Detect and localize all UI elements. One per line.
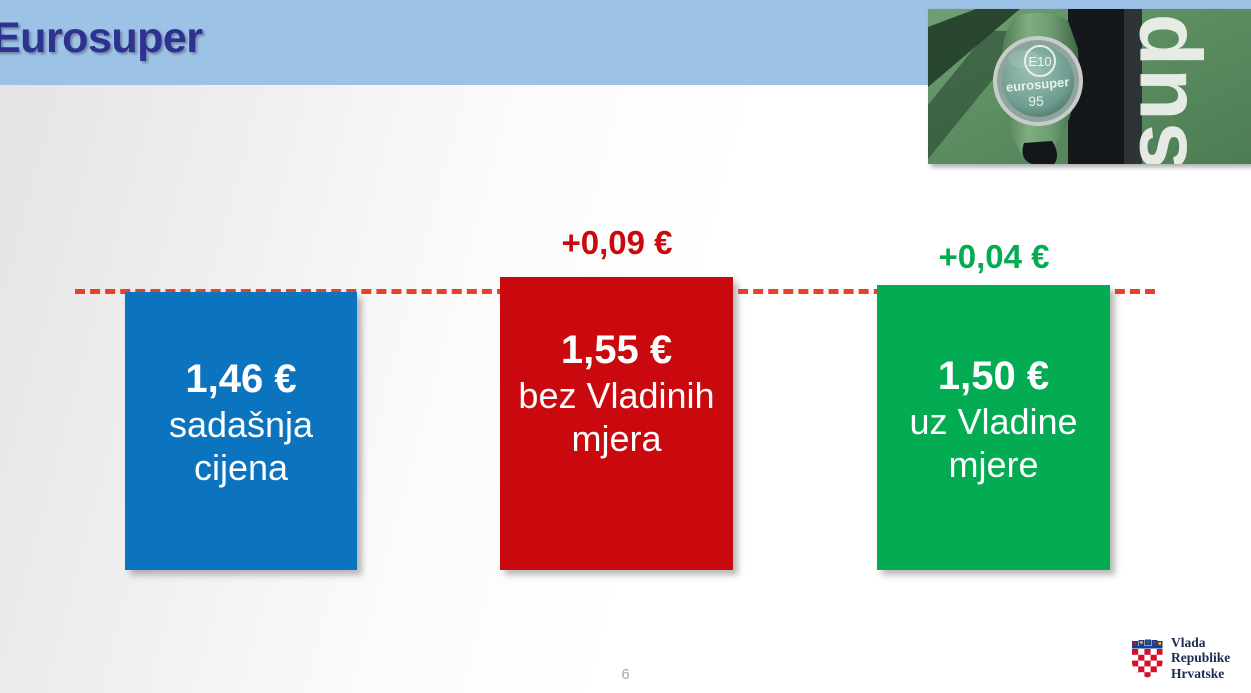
svg-text:95: 95 <box>1028 93 1044 109</box>
bar-current: 1,46 € sadašnja cijena <box>125 292 357 570</box>
bar-without-measures-caption: bez Vladinih mjera <box>500 374 733 460</box>
page-number: 6 <box>0 666 1251 683</box>
bar-with-measures-price: 1,50 € <box>877 353 1110 400</box>
delta-label-with-measures: +0,04 € <box>874 238 1114 276</box>
gov-logo-line1: Vlada <box>1171 635 1230 650</box>
croatian-coat-of-arms-icon <box>1130 638 1164 678</box>
bar-with-measures-caption: uz Vladine mjere <box>877 400 1110 486</box>
delta-label-without-measures: +0,09 € <box>497 224 737 262</box>
bar-with-measures: 1,50 € uz Vladine mjere <box>877 285 1110 570</box>
croatian-government-logo: Vlada Republike Hrvatske <box>1130 632 1245 684</box>
bar-without-measures: 1,55 € bez Vladinih mjera <box>500 277 733 570</box>
gov-logo-line2: Republike <box>1171 650 1230 665</box>
fuel-nozzle-photo-graphic: sup E10 eurosuper 95 <box>928 9 1251 164</box>
svg-text:sup: sup <box>1109 12 1205 164</box>
fuel-nozzle-photo: sup E10 eurosuper 95 <box>928 9 1251 164</box>
gov-logo-line3: Hrvatske <box>1171 666 1230 681</box>
gov-logo-text: Vlada Republike Hrvatske <box>1171 635 1230 680</box>
slide-canvas: Eurosuper <box>0 0 1251 693</box>
bar-without-measures-price: 1,55 € <box>500 327 733 374</box>
page-title: Eurosuper <box>0 14 203 63</box>
bar-current-caption: sadašnja cijena <box>125 403 357 489</box>
bar-current-price: 1,46 € <box>125 356 357 403</box>
